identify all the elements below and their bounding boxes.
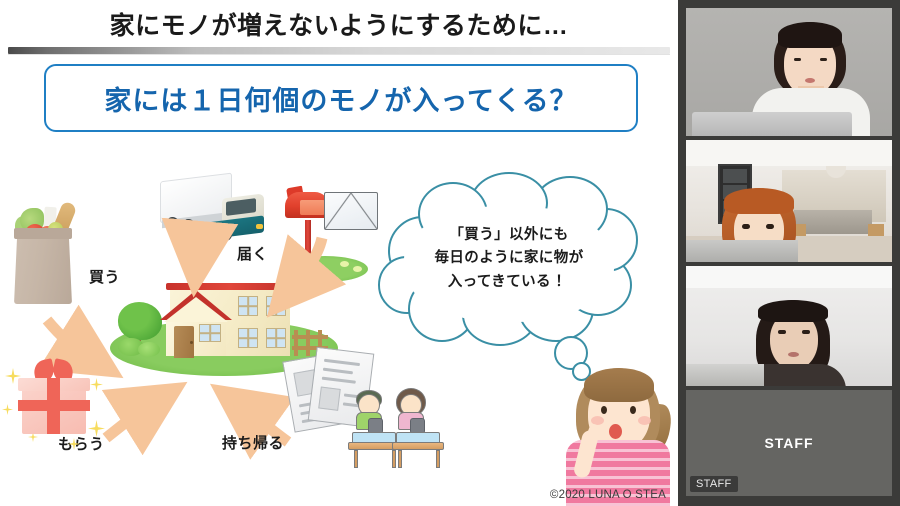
bubble-line-2: 毎日のように家に物が [378,247,640,270]
bubble-line-3: 入ってきている ！ [378,271,640,294]
question-box: 家には１日何個のモノが入ってくる？ [44,64,638,132]
hair-top [584,368,654,402]
participant-filmstrip[interactable]: STAFF STAFF [678,0,900,506]
participant-eye [742,224,750,229]
thought-bubble: 「買う」以外にも 毎日のように家に物が 入ってきている ！ [378,172,640,348]
participant-eye [778,330,786,334]
participant-eye [820,58,827,61]
title-underline [8,54,670,55]
participant-fringe [724,188,794,214]
laptop-screen [692,112,852,136]
copyright-notice: ©2020 LUNA O STEA [550,489,666,501]
desk-leg [398,450,402,468]
room-ceiling [686,266,892,288]
eye [630,406,636,414]
school-desk [392,442,444,450]
question-text: 家には１日何個のモノが入ってくる？ [104,79,577,118]
participant-fringe [778,22,842,48]
gift-ribbon-horizontal [18,400,90,411]
slide-canvas: 家にモノが増えないようにするために… 家には１日何個のモノが入ってくる？ 買う [0,0,678,506]
title-divider [8,47,670,54]
eye [601,406,607,414]
laptop-screen [686,364,764,386]
desk-leg [436,450,440,468]
laptop-screen [686,240,798,262]
cheek-blush [638,416,651,425]
slide-title: 家にモノが増えないようにするために… [0,2,678,46]
label-receive: もらう [58,433,105,454]
room-wall [686,140,892,166]
participant-name-badge: STAFF [690,476,738,492]
participant-eye [794,58,801,61]
participant-mouth [805,78,815,83]
video-tile-2[interactable] [686,140,892,262]
desk-leg [354,450,358,468]
thought-bubble-text: 「買う」以外にも 毎日のように家に物が 入ってきている ！ [378,224,640,294]
bubble-line-1: 「買う」以外にも [378,224,640,247]
participant-fringe [758,300,828,322]
meeting-screen: 家にモノが増えないようにするために… 家には１日何個のモノが入ってくる？ 買う [0,0,900,506]
participant-eye [766,224,774,229]
desk-leg [392,450,396,468]
mouth [609,424,622,439]
placeholder-label: STAFF [686,435,892,451]
shared-slide[interactable]: 家にモノが増えないようにするために… 家には１日何個のモノが入ってくる？ 買う [0,0,678,506]
video-tile-1[interactable] [686,8,892,136]
label-bring-home: 持ち帰る [222,432,284,453]
video-tile-3[interactable] [686,266,892,386]
participant-eye [802,330,810,334]
participant-mouth [788,352,799,357]
video-tile-4-placeholder[interactable]: STAFF STAFF [686,390,892,496]
